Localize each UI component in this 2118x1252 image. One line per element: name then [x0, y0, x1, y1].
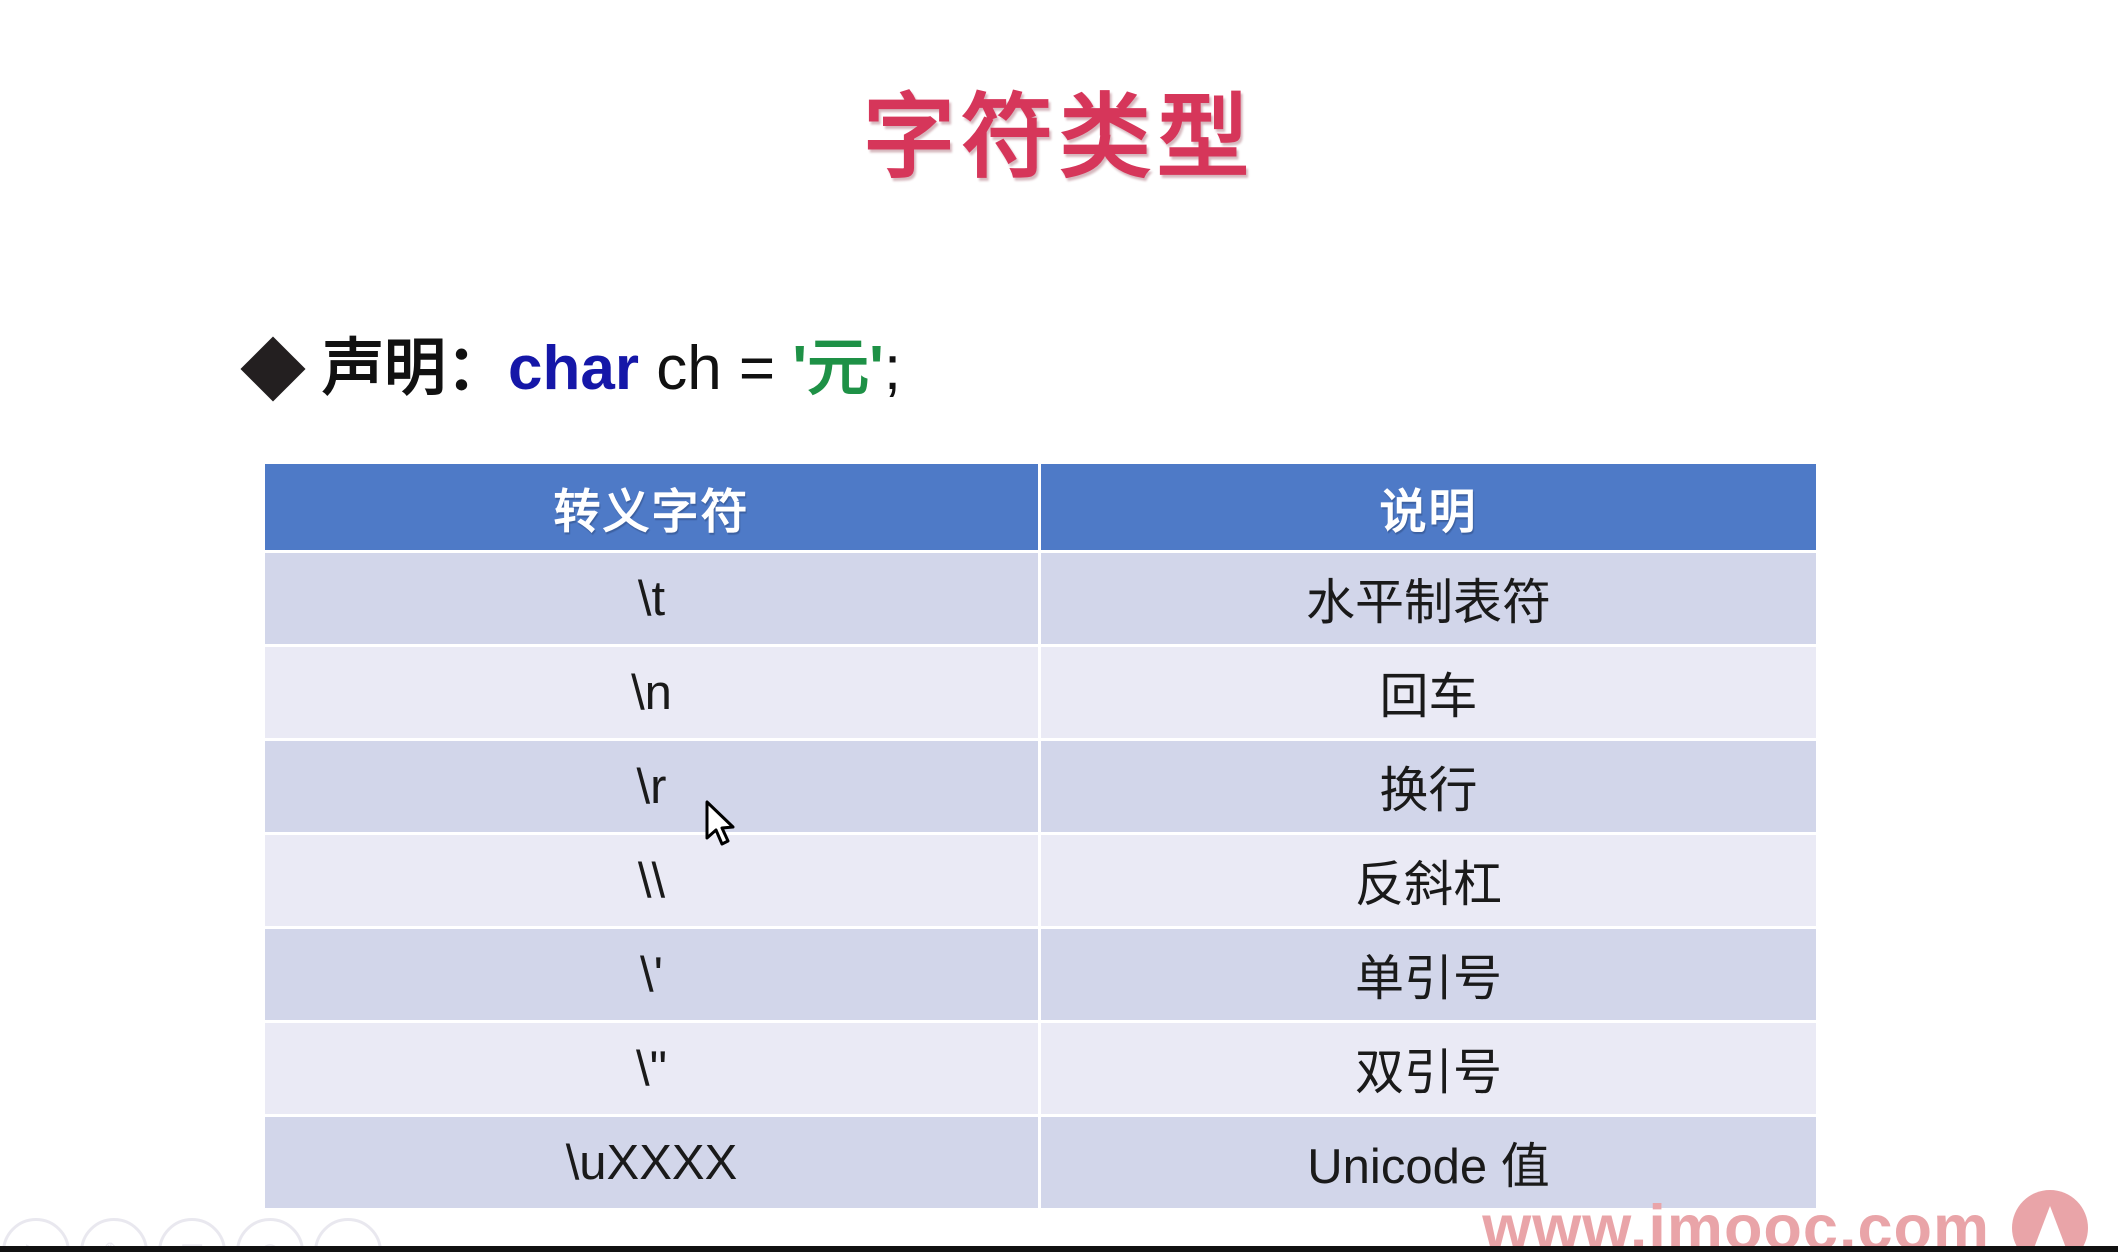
cell-escape: \r: [265, 741, 1038, 832]
cell-escape: \uXXXX: [265, 1117, 1038, 1208]
cell-escape: \": [265, 1023, 1038, 1114]
cell-description: 回车: [1041, 647, 1816, 738]
table-row: \' 单引号: [265, 929, 1816, 1020]
escape-characters-table: 转义字符 说明 \t 水平制表符 \n 回车 \r 换行 \\ 反斜杠 \': [262, 461, 1819, 1211]
declaration-line: 声明： char ch = '元' ;: [250, 338, 901, 400]
table-row: \\ 反斜杠: [265, 835, 1816, 926]
declaration-keyword: char: [508, 338, 639, 400]
page-title: 字符类型: [0, 92, 2118, 184]
table-header-row: 转义字符 说明: [265, 464, 1816, 550]
table-row: \n 回车: [265, 647, 1816, 738]
declaration-terminator: ;: [884, 338, 901, 400]
slide-canvas: 字符类型 声明： char ch = '元' ; 转义字符 说明 \t 水平制表…: [0, 0, 2118, 1252]
table-row: \r 换行: [265, 741, 1816, 832]
cell-description: 换行: [1041, 741, 1816, 832]
watermark-text: www.imooc.com: [1482, 1197, 1990, 1252]
imooc-logo-icon: [2012, 1190, 2088, 1252]
cell-description: 反斜杠: [1041, 835, 1816, 926]
column-header-description: 说明: [1041, 464, 1816, 550]
cell-escape: \\: [265, 835, 1038, 926]
declaration-variable: ch =: [639, 338, 792, 400]
cell-escape: \': [265, 929, 1038, 1020]
table-body: \t 水平制表符 \n 回车 \r 换行 \\ 反斜杠 \' 单引号 \" 双引…: [265, 553, 1816, 1208]
diamond-bullet-icon: [240, 336, 305, 401]
table-row: \" 双引号: [265, 1023, 1816, 1114]
table-row: \t 水平制表符: [265, 553, 1816, 644]
cell-escape: \t: [265, 553, 1038, 644]
declaration-literal: '元': [792, 338, 884, 400]
recorder-toolbar[interactable]: ▶ ✎ ▤ ◉: [0, 1200, 382, 1252]
cell-escape: \n: [265, 647, 1038, 738]
cell-description: 水平制表符: [1041, 553, 1816, 644]
watermark: www.imooc.com: [1482, 1190, 2088, 1252]
bottom-edge-bar: [0, 1246, 2118, 1252]
column-header-escape: 转义字符: [265, 464, 1038, 550]
cell-description: 单引号: [1041, 929, 1816, 1020]
declaration-label: 声明：: [322, 338, 508, 400]
cell-description: 双引号: [1041, 1023, 1816, 1114]
